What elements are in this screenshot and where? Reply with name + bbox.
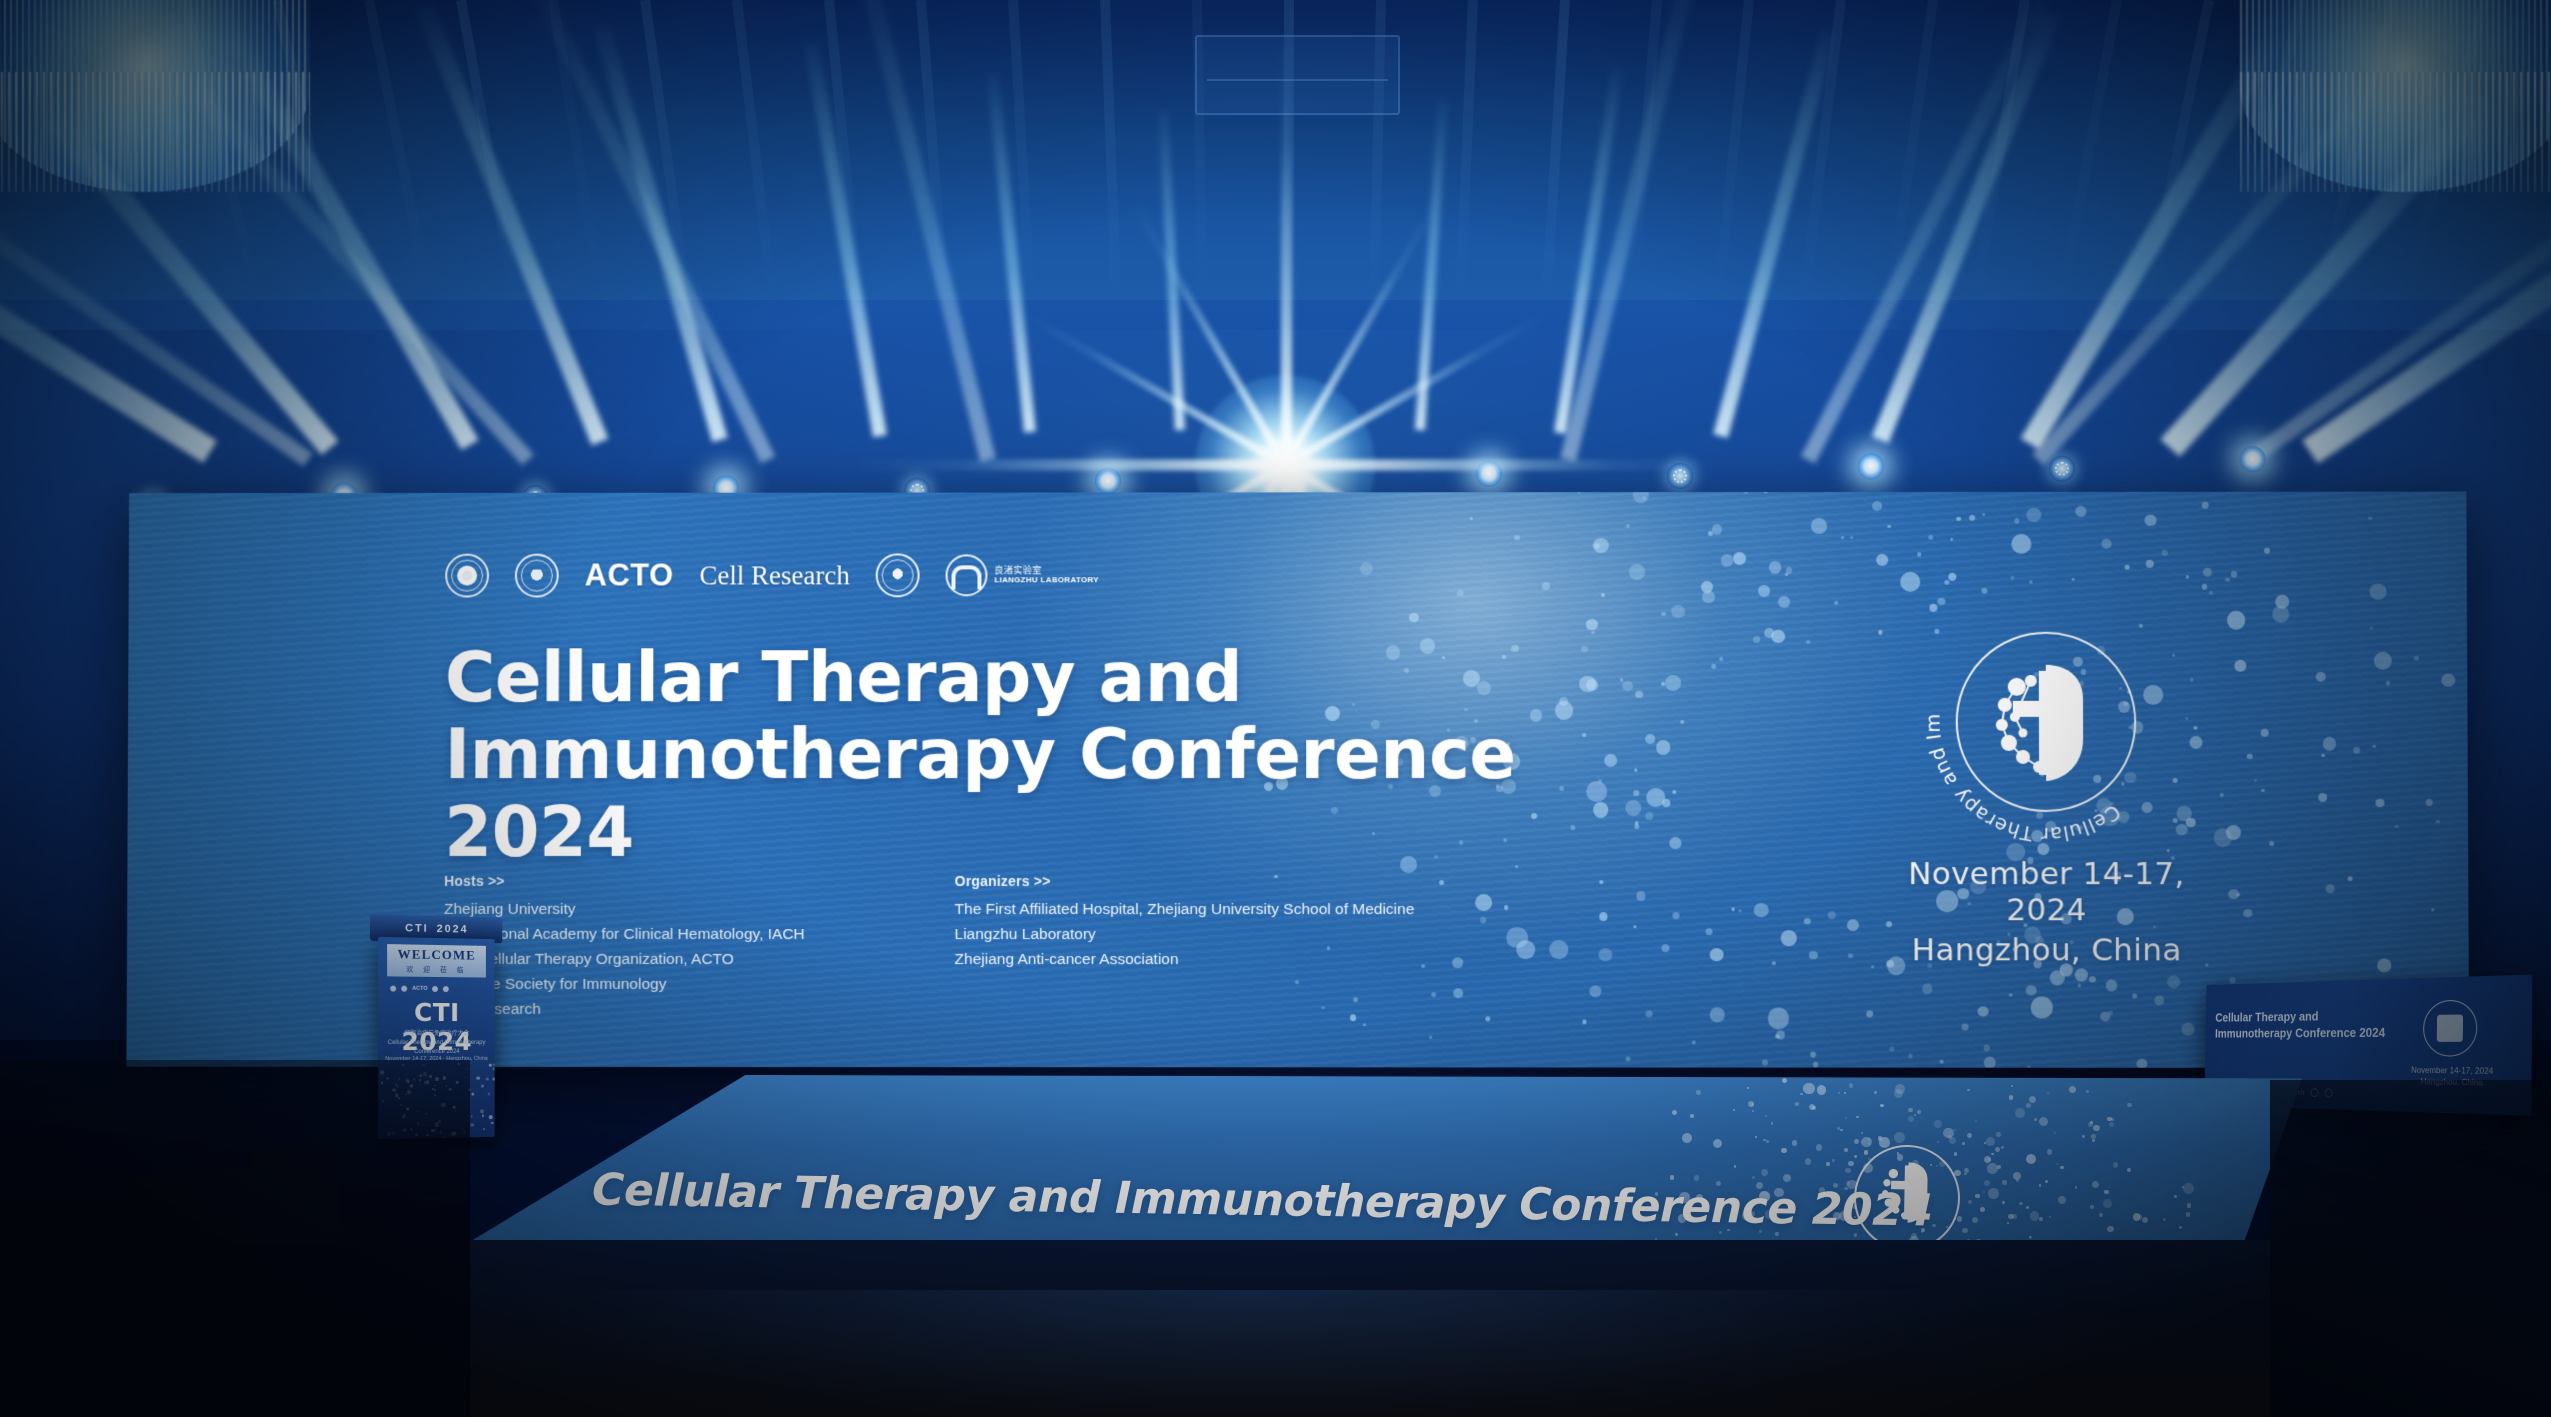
liangzhu-laboratory-logo: 良渚实验室 LIANGZHU LABORATORY (945, 554, 1098, 596)
bubble-dot (2008, 1214, 2013, 1219)
bubble-dot (1670, 1175, 1675, 1180)
zju-seal-logo (445, 554, 489, 598)
bubble-dot (1409, 613, 1418, 622)
podium-top-acronym: CTI (405, 922, 429, 935)
bubble-dot (2026, 1103, 2031, 1108)
organizer-item: Liangzhu Laboratory (955, 922, 1415, 947)
bubble-dot (2039, 1184, 2042, 1187)
bubble-dot (1719, 657, 1723, 661)
bubble-dot (1914, 1114, 1916, 1116)
bubble-dot (1672, 790, 1677, 795)
ceiling-beam-line (2057, 0, 2122, 296)
bubble-dot (1731, 908, 1734, 911)
beam-light-source (2240, 446, 2266, 472)
bubble-dot (2075, 1186, 2077, 1188)
podium-top-year: 2024 (437, 923, 469, 936)
bubble-dot (1928, 535, 1933, 540)
bubble-dot (1834, 601, 1838, 605)
bubble-dot (1633, 492, 1649, 504)
bubble-dot (2136, 1058, 2147, 1067)
bubble-dot (2039, 1217, 2043, 1221)
bubble-dot (2220, 793, 2224, 797)
bubble-dot (1781, 1148, 1786, 1153)
bubble-dot (1708, 531, 1714, 537)
bubble-dot (471, 1092, 474, 1095)
bubble-dot (2109, 1122, 2114, 1127)
bubble-dot (1809, 951, 1818, 960)
bubble-dot (1807, 640, 1811, 644)
bubble-dot (2013, 1172, 2021, 1180)
bubble-dot (2378, 959, 2391, 972)
bubble-dot (2323, 737, 2337, 751)
bubble-dot (1778, 596, 1790, 608)
chandelier-left (0, 0, 310, 192)
bubble-dot (1940, 1060, 1944, 1064)
bubble-dot (1881, 1105, 1883, 1107)
bubble-dot (2237, 893, 2241, 897)
bubble-dot (2353, 747, 2360, 754)
bubble-dot (2026, 1154, 2036, 1164)
bubble-dot (1811, 518, 1827, 534)
bubble-dot (1665, 675, 1681, 691)
bubble-dot (1360, 562, 1373, 575)
bubble-dot (2034, 1118, 2037, 1121)
bubble-dot (1680, 720, 1684, 724)
bubble-dot (2125, 565, 2130, 570)
bubble-dot (1949, 572, 1957, 580)
bubble-dot (2009, 1095, 2013, 1099)
bubble-dot (2015, 1108, 2025, 1118)
bubble-dot (1809, 1104, 1815, 1110)
bubble-dot (1601, 593, 1605, 597)
bubble-dot (1663, 799, 1671, 807)
bubble-dot (493, 1077, 495, 1081)
bubble-dot (2142, 1217, 2148, 1223)
bubble-dot (2318, 793, 2327, 802)
bubble-dot (2107, 1226, 2114, 1233)
bubble-dot (2209, 591, 2213, 595)
bubble-dot (1661, 612, 1666, 617)
bubble-dot (1984, 1156, 1991, 1163)
ceiling-beam-line (1008, 0, 1036, 300)
ceiling-beam-line (548, 0, 605, 297)
bubble-dot (1672, 912, 1679, 919)
bubble-dot (1646, 788, 1666, 808)
stage-deck-title: Cellular Therapy and Immunotherapy Confe… (592, 1164, 1933, 1236)
bubble-dot (1944, 580, 1949, 585)
bubble-dot (1792, 1140, 1797, 1145)
bubble-dot (1917, 552, 1921, 556)
bubble-dot (2029, 1236, 2032, 1239)
bubble-dot (2348, 876, 2353, 881)
bubble-dot (1549, 940, 1568, 959)
bubble-dot (2231, 571, 2237, 577)
bubble-dot (1363, 1023, 1366, 1026)
bubble-dot (1951, 537, 1954, 540)
bubble-dot (2050, 970, 2065, 985)
bubble-dot (2203, 568, 2212, 577)
podium-welcome-plate: WELCOME 欢 迎 莅 临 (387, 944, 486, 978)
bubble-dot (2144, 514, 2156, 526)
bubble-dot (1753, 636, 1759, 642)
bubble-dot (1828, 911, 1836, 919)
bubble-dot (2100, 1011, 2110, 1021)
ceiling-beam-line (2143, 0, 2213, 295)
bubble-dot (1593, 538, 1609, 554)
bubble-dot (1766, 1140, 1769, 1143)
bubble-dot (2103, 1199, 2112, 1208)
bubble-dot (2075, 506, 2086, 517)
bubble-dot (2376, 799, 2385, 808)
bubble-dot (2016, 1179, 2019, 1182)
bubble-dot (477, 1076, 480, 1079)
bubble-dot (2069, 1086, 2076, 1093)
bubble-dot (2014, 518, 2019, 523)
bubble-dot (2011, 1085, 2013, 1087)
bubble-dot (2414, 656, 2418, 660)
foreground-case (250, 1150, 340, 1245)
bubble-dot (483, 1128, 486, 1131)
bubble-dot (1813, 1062, 1819, 1068)
ceiling-beam-line (1799, 0, 1846, 298)
bubble-dot (1871, 965, 1874, 968)
bubble-dot (2260, 729, 2268, 737)
bubble-dot (2127, 1103, 2131, 1107)
hosts-column: Hosts >> Zhejiang University Internation… (444, 870, 805, 1022)
bubble-dot (490, 1122, 493, 1125)
bubble-dot (1880, 1104, 1883, 1107)
bubble-dot (2146, 560, 2154, 568)
ceiling-beam-line (1100, 0, 1121, 300)
host-item: Asia Cellular Therapy Organization, ACTO (444, 947, 805, 972)
bubble-dot (1733, 552, 1746, 565)
bubble-dot (2436, 820, 2440, 824)
conference-date: November 14-17, 2024 (1881, 856, 2212, 928)
bubble-dot (1763, 1139, 1765, 1141)
host-item: Chinese Society for Immunology (444, 972, 805, 997)
bubble-dot (1711, 664, 1716, 669)
bubble-dot (2071, 578, 2074, 581)
conference-stage-photo: ACTO Cell Research 良渚实验室 LIANGZHU LABORA… (0, 0, 2551, 1417)
bubble-dot (2369, 516, 2372, 519)
bubble-dot (1431, 992, 1436, 997)
bubble-dot (2012, 1214, 2018, 1220)
bubble-dot (1969, 515, 1975, 521)
podium-logo-row: ACTO (390, 986, 449, 993)
bubble-dot (1453, 989, 1463, 999)
bubble-dot (2007, 1222, 2009, 1224)
ceiling-beam-line (640, 0, 691, 298)
bubble-dot (2089, 976, 2096, 983)
bubble-dot (488, 1093, 490, 1095)
bubble-dot (489, 1064, 492, 1067)
bubble-dot (1984, 1142, 1986, 1144)
bubble-dot (2060, 1166, 2063, 1169)
bubble-dot (2385, 681, 2390, 686)
ceiling-access-panel (1195, 35, 1400, 115)
bubble-dot (1996, 1132, 2000, 1136)
podium-seal-icon (443, 986, 449, 992)
bubble-dot (1762, 1059, 1768, 1065)
bubble-dot (1439, 880, 1444, 885)
bubble-dot (493, 1066, 495, 1070)
bubble-dot (2133, 1213, 2140, 1220)
bubble-dot (1894, 1089, 1903, 1098)
bubble-dot (1900, 572, 1920, 592)
chandelier-crystals (0, 72, 310, 192)
bubble-dot (1956, 516, 1961, 521)
bubble-dot (1977, 1006, 1988, 1017)
bubble-dot (2039, 1117, 2048, 1126)
bubble-dot (2101, 539, 2111, 549)
podium-welcome-en: WELCOME (398, 946, 476, 963)
bubble-dot (1429, 1036, 1432, 1039)
bubble-dot (2027, 1066, 2031, 1068)
podium-seal-icon (390, 986, 396, 992)
ceiling-beam-line (1541, 0, 1570, 300)
organizers-column: Organizers >> The First Affiliated Hospi… (954, 870, 1414, 1023)
bubble-dot (482, 1115, 484, 1117)
bubble-dot (2174, 1195, 2177, 1198)
bubble-dot (2104, 1190, 2108, 1194)
bubble-dot (2056, 1163, 2058, 1165)
bubble-dot (2315, 671, 2326, 682)
bubble-dot (1995, 1147, 2000, 1152)
bubble-dot (2002, 1180, 2007, 1185)
bubble-dot (1636, 891, 1646, 901)
bubble-dot (2091, 1134, 2096, 1139)
bubble-dot (1475, 894, 1492, 911)
bubble-dot (1504, 905, 1509, 910)
floor-reflection (500, 1290, 2000, 1417)
bubble-dot (2369, 583, 2386, 600)
bubble-dot (1758, 585, 1769, 596)
bubble-dot (1786, 567, 1792, 573)
bubble-dot (2092, 1139, 2096, 1143)
bubble-dot (1656, 740, 1670, 754)
bubble-dot (2127, 1168, 2131, 1172)
bubble-dot (2088, 1122, 2093, 1127)
bubble-dot (1586, 619, 1597, 630)
bubble-dot (2214, 828, 2232, 846)
bubble-dot (2099, 1213, 2104, 1218)
bubble-dot (1514, 535, 1519, 540)
bubble-dot (1582, 1020, 1587, 1025)
ceiling-beam-line (732, 0, 778, 298)
liangzhu-arch-icon (945, 554, 987, 596)
bubble-dot (1626, 1057, 1631, 1062)
bubble-dot (1800, 1093, 1802, 1095)
bubble-dot (2027, 508, 2042, 522)
ceiling-beam-line (1713, 0, 1754, 299)
bubble-dot (2264, 547, 2271, 553)
bubble-dot (2234, 659, 2247, 672)
bubble-dot (2230, 977, 2236, 983)
organizer-item: Zhejiang Anti-cancer Association (955, 947, 1415, 972)
bubble-dot (1874, 1091, 1877, 1094)
bubble-dot (1599, 913, 1607, 921)
bubble-dot (1983, 513, 1986, 516)
bubble-dot (1589, 985, 1601, 997)
bubble-dot (2026, 1206, 2029, 1209)
ceiling-beam-line (1627, 0, 1662, 299)
bubble-dot (1984, 1057, 1996, 1068)
bubble-dot (1810, 1051, 1816, 1057)
bubble-dot (2372, 744, 2375, 747)
bubble-dot (1662, 945, 1670, 953)
bubble-dot (1691, 1040, 1695, 1044)
bubble-dot (1626, 524, 1630, 528)
bubble-dot (2078, 983, 2081, 986)
bubble-dot (1480, 917, 1486, 923)
bubble-dot (1701, 581, 1714, 593)
bubble-dot (1661, 682, 1665, 686)
bubble-dot (1983, 1191, 1985, 1193)
bubble-dot (1452, 958, 1463, 969)
bubble-dot (2326, 884, 2335, 893)
bubble-dot (2162, 550, 2168, 556)
bubble-dot (1841, 536, 1844, 539)
bubble-dot (1594, 543, 1600, 549)
bubble-dot (1848, 953, 1853, 958)
bubble-dot (2082, 1135, 2085, 1138)
ceiling-beam-line (824, 0, 864, 299)
bubble-dot (2106, 980, 2118, 992)
bubble-dot (1710, 1008, 1724, 1022)
podium-subtitle: 细胞治疗与免疫治疗大会 Cellular Therapy and Immunot… (386, 1030, 487, 1057)
bubble-dot (2047, 1092, 2049, 1094)
bubble-dot (2058, 1196, 2066, 1204)
bubble-dot (471, 1116, 472, 1117)
bubble-dot (2054, 1132, 2056, 1134)
bubble-dot (2226, 825, 2241, 840)
bubble-dot (1813, 1106, 1815, 1108)
bubble-dot (1984, 1045, 1990, 1051)
bubble-dot (1645, 734, 1655, 744)
bubble-dot (2167, 976, 2180, 989)
bubble-dot (2202, 584, 2207, 589)
bubble-dot (2029, 1236, 2032, 1239)
side-screen-emblem (2423, 1000, 2478, 1057)
bubble-dot (1577, 492, 1581, 494)
bubble-dot (1783, 1174, 1791, 1182)
bubble-dot (1642, 496, 1645, 499)
bubble-dot (480, 1109, 484, 1113)
bubble-dot (2086, 1090, 2089, 1093)
bubble-dot (1909, 1054, 1913, 1058)
foreground-case (130, 1175, 250, 1245)
bubble-dot (1748, 1101, 1753, 1106)
foreground-equipment-right (2270, 1080, 2551, 1417)
bubble-dot (1672, 1110, 1677, 1115)
bubble-dot (1696, 1090, 1701, 1095)
ceiling-beam-line (364, 0, 433, 295)
bubble-dot (2049, 1216, 2051, 1218)
beam-light-source (1476, 460, 1502, 486)
bubble-dot (2185, 575, 2189, 579)
bubble-dot (1765, 1115, 1767, 1117)
bubble-dot (2107, 1117, 2112, 1122)
bubble-dot (1981, 588, 1987, 594)
bubble-dot (1895, 1084, 1905, 1094)
sponsor-logo-row: ACTO Cell Research 良渚实验室 LIANGZHU LABORA… (445, 553, 1099, 597)
podium-seal-icon (401, 986, 407, 992)
bubble-dot (1713, 1139, 1722, 1148)
bubble-dot (1812, 1106, 1816, 1110)
banner-title: Cellular Therapy and Immunotherapy Confe… (444, 640, 1643, 872)
bubble-dot (1747, 1087, 1749, 1089)
bubble-dot (1670, 837, 1682, 849)
bubble-dot (1847, 919, 1860, 932)
organizers-heading: Organizers >> (955, 870, 1415, 893)
bubble-dot (1961, 1024, 1968, 1031)
bubble-dot (1706, 928, 1713, 935)
bubble-dot (1469, 517, 1473, 521)
ceiling-beam-line (1455, 0, 1478, 300)
bubble-dot (2272, 606, 2289, 623)
bubble-dot (2247, 754, 2252, 759)
bubble-dot (1675, 1233, 1678, 1236)
bubble-dot (2111, 1118, 2114, 1121)
bubble-dot (2154, 995, 2164, 1005)
csi-seal-logo (876, 553, 920, 597)
bubble-dot (2001, 1146, 2004, 1149)
organizer-item: The First Affiliated Hospital, Zhejiang … (955, 897, 1415, 922)
bubble-dot (1856, 1116, 1858, 1118)
bubble-dot (1908, 1108, 1912, 1112)
iach-seal-logo (515, 554, 559, 598)
bubble-dot (1795, 1102, 1799, 1106)
acto-wordmark-logo: ACTO (585, 558, 674, 594)
bubble-dot (1771, 629, 1785, 643)
bubble-dot (2019, 1202, 2022, 1205)
bubble-dot (1645, 1010, 1652, 1017)
bubble-dot (492, 1063, 494, 1065)
bubble-dot (2093, 1125, 2100, 1132)
bubble-dot (1671, 605, 1685, 619)
bubble-dot (1754, 903, 1769, 918)
beam-light-source (1858, 453, 1884, 479)
bubble-dot (2186, 1212, 2191, 1217)
bubble-dot (2047, 1149, 2053, 1155)
bubble-dot (2254, 779, 2257, 782)
bubble-dot (1967, 1089, 1970, 1092)
bubble-dot (481, 1085, 483, 1088)
conference-location: Hangzhou, China (1881, 932, 2212, 968)
cell-research-wordmark-logo: Cell Research (699, 560, 849, 591)
bubble-dot (1752, 1176, 1755, 1179)
bubble-dot (1629, 564, 1644, 579)
bubble-dot (1751, 1103, 1754, 1106)
bubble-dot (2179, 1226, 2182, 1229)
credits-block: Hosts >> Zhejiang University Internation… (444, 870, 1415, 1023)
bubble-dot (1785, 573, 1788, 576)
bubble-dot (2229, 889, 2240, 900)
beam-light-source (1094, 468, 1120, 494)
bubble-dot (2182, 1186, 2184, 1188)
bubble-dot (1816, 1144, 1822, 1150)
bubble-dot (2244, 909, 2252, 917)
bubble-dot (2225, 577, 2230, 582)
bubble-dot (1838, 1092, 1840, 1094)
bubble-dot (2395, 825, 2399, 829)
bubble-dot (1922, 984, 1932, 994)
bubble-dot (1889, 1046, 1894, 1051)
bubble-dot (2321, 753, 2325, 757)
bubble-dot (1761, 1169, 1768, 1176)
bubble-dot (2187, 1203, 2192, 1208)
bubble-dot (1775, 1034, 1779, 1038)
